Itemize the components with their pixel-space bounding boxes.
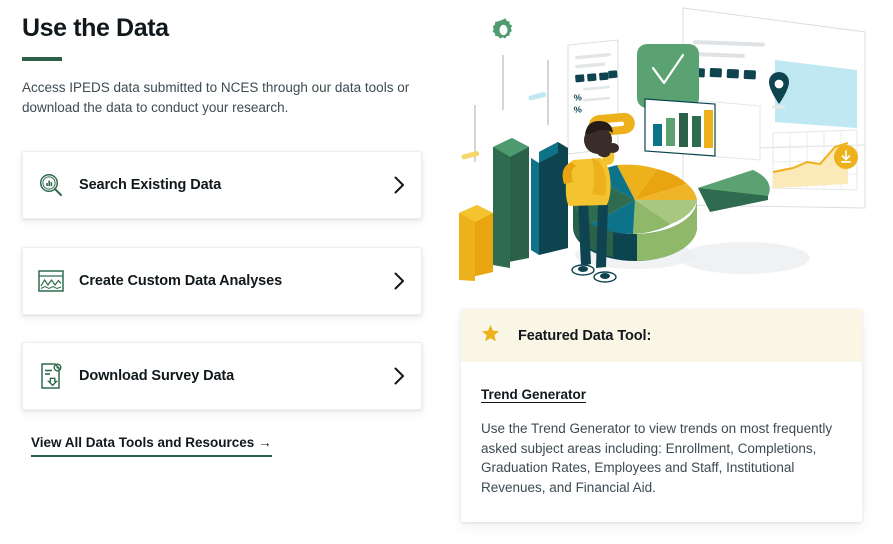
- view-all-data-tools-link[interactable]: View All Data Tools and Resources →: [31, 435, 272, 457]
- card-label: Search Existing Data: [79, 177, 377, 193]
- section-intro-text: Access IPEDS data submitted to NCES thro…: [22, 78, 422, 118]
- title-accent-bar: [22, 57, 62, 61]
- featured-panel-description: Use the Trend Generator to view trends o…: [481, 419, 840, 497]
- svg-text:%: %: [573, 92, 582, 103]
- chevron-right-icon: [377, 272, 421, 290]
- download-badge-icon: [834, 145, 858, 169]
- card-create-custom-data-analyses[interactable]: Create Custom Data Analyses: [22, 247, 422, 315]
- data-tools-illustration: % %: [455, 0, 893, 300]
- trend-generator-link[interactable]: Trend Generator: [481, 387, 586, 402]
- card-label: Create Custom Data Analyses: [79, 273, 377, 289]
- line-chart-frame-icon: [23, 269, 79, 293]
- featured-data-tool-panel: Featured Data Tool: Trend Generator Use …: [461, 309, 862, 522]
- featured-panel-header: Featured Data Tool:: [461, 309, 862, 362]
- checkmark-badge: [637, 44, 699, 108]
- magnifier-chart-icon: [23, 172, 79, 198]
- card-search-existing-data[interactable]: Search Existing Data: [22, 151, 422, 219]
- svg-text:%: %: [573, 104, 582, 115]
- chevron-right-icon: [377, 176, 421, 194]
- page-title: Use the Data: [22, 14, 169, 43]
- use-the-data-section: Use the Data Access IPEDS data submitted…: [0, 0, 893, 544]
- featured-panel-heading: Featured Data Tool:: [518, 328, 651, 344]
- left-column: Use the Data Access IPEDS data submitted…: [0, 0, 447, 544]
- card-download-survey-data[interactable]: Download Survey Data: [22, 342, 422, 410]
- star-icon: [481, 324, 500, 348]
- mini-bar-chart: [645, 99, 715, 156]
- document-download-icon: [23, 362, 79, 390]
- chevron-right-icon: [377, 367, 421, 385]
- featured-panel-body: Trend Generator Use the Trend Generator …: [461, 362, 862, 497]
- gear-icon: [493, 18, 512, 38]
- card-label: Download Survey Data: [79, 368, 377, 384]
